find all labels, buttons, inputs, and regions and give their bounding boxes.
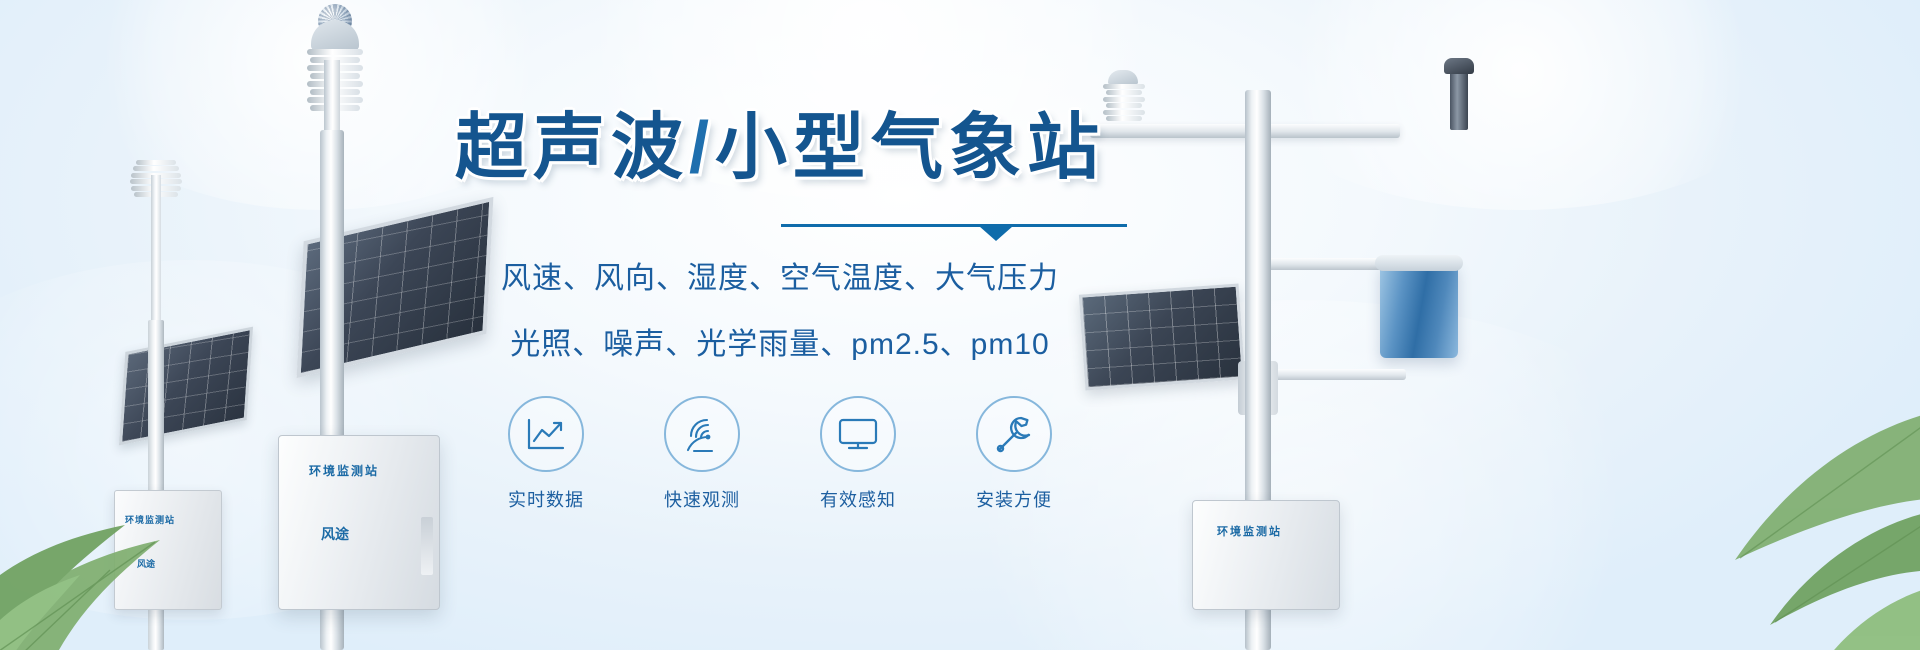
feature-list: 实时数据 快速观测	[430, 396, 1130, 512]
enclosure-label: 环境监测站	[309, 462, 379, 479]
feature-label: 实时数据	[498, 486, 594, 512]
enclosure-brand: 风途	[137, 557, 155, 570]
divider	[781, 221, 1127, 237]
divider-arrow-icon	[979, 226, 1013, 241]
solar-panel	[119, 327, 253, 446]
weather-station-right: 环境监测站	[1080, 30, 1500, 650]
feature-circle	[508, 396, 584, 472]
line-chart-icon	[526, 417, 566, 451]
product-banner: 环境监测站 风途 环境监测站 风途 环境监测站	[0, 0, 1920, 650]
monitor-screen-icon	[837, 417, 879, 451]
feature-circle	[664, 396, 740, 472]
feature-label: 安装方便	[966, 486, 1062, 512]
feature-item-effective-sensing[interactable]: 有效感知	[810, 396, 906, 512]
page-title: 超声波/小型气象站	[430, 108, 1130, 189]
feature-label: 有效感知	[810, 486, 906, 512]
wrench-icon	[994, 414, 1034, 454]
banner-content: 超声波/小型气象站 风速、风向、湿度、空气温度、大气压力 光照、噪声、光学雨量、…	[430, 108, 1130, 512]
headline-slash: /	[689, 108, 715, 188]
feature-item-fast-observation[interactable]: 快速观测	[654, 396, 750, 512]
headline-part-1: 超声波	[455, 108, 689, 188]
subtitle-line-2: 光照、噪声、光学雨量、pm2.5、pm10	[430, 321, 1130, 370]
headline-part-2: 小型气象站	[715, 108, 1105, 188]
radar-signal-icon	[682, 415, 722, 453]
feature-item-easy-install[interactable]: 安装方便	[966, 396, 1062, 512]
feature-item-realtime-data[interactable]: 实时数据	[498, 396, 594, 512]
controller-enclosure: 环境监测站	[1192, 500, 1340, 610]
enclosure-vent	[421, 517, 433, 575]
optical-sensor	[1450, 68, 1468, 130]
enclosure-label: 环境监测站	[1217, 523, 1282, 539]
controller-enclosure: 环境监测站 风途	[114, 490, 222, 610]
controller-enclosure: 环境监测站 风途	[278, 435, 440, 610]
divider-line	[781, 224, 1127, 227]
subtitle-line-1: 风速、风向、湿度、空气温度、大气压力	[430, 255, 1130, 304]
feature-circle	[820, 396, 896, 472]
enclosure-brand: 风途	[321, 524, 349, 544]
feature-circle	[976, 396, 1052, 472]
rain-gauge	[1380, 262, 1458, 358]
cross-arm-lower	[1256, 369, 1406, 380]
palm-leaf-decor-right	[1640, 370, 1920, 650]
feature-label: 快速观测	[654, 486, 750, 512]
enclosure-label: 环境监测站	[125, 513, 175, 526]
